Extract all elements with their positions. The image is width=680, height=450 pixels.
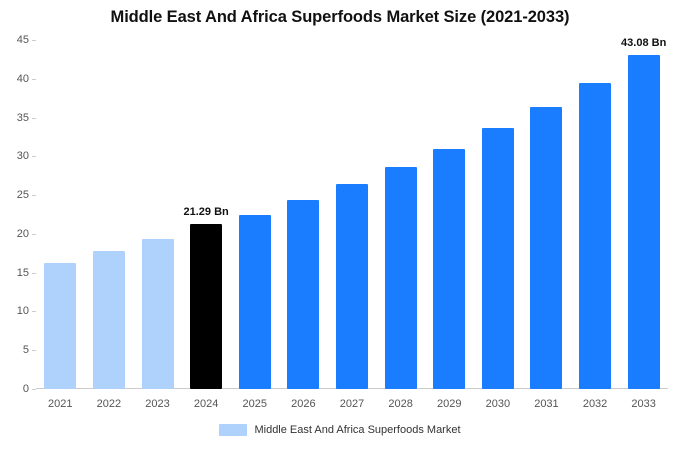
- y-tick-label: 40: [17, 73, 29, 85]
- x-tick-label: 2033: [631, 398, 655, 410]
- x-tick-label: 2029: [437, 398, 461, 410]
- bar-slot: 2028: [376, 40, 425, 389]
- bar-slot: 2029: [425, 40, 474, 389]
- plot-area: 051015202530354045 20212022202321.29 Bn2…: [36, 40, 668, 389]
- bar-2024[interactable]: [190, 224, 222, 389]
- chart-container: Middle East And Africa Superfoods Market…: [0, 0, 680, 450]
- chart-title: Middle East And Africa Superfoods Market…: [0, 8, 680, 27]
- x-tick-label: 2025: [243, 398, 267, 410]
- bar-2025[interactable]: [239, 215, 271, 390]
- x-tick-label: 2023: [145, 398, 169, 410]
- legend-swatch: [219, 424, 247, 436]
- bar-2027[interactable]: [336, 184, 368, 389]
- bar-slot: 2030: [474, 40, 523, 389]
- x-tick-label: 2021: [48, 398, 72, 410]
- bar-slot: 2025: [230, 40, 279, 389]
- y-tick-label: 25: [17, 189, 29, 201]
- bar-slot: 2031: [522, 40, 571, 389]
- y-tick-label: 20: [17, 228, 29, 240]
- x-tick-label: 2028: [388, 398, 412, 410]
- bar-slot: 2026: [279, 40, 328, 389]
- bar-slot: 2032: [571, 40, 620, 389]
- bar-2022[interactable]: [93, 251, 125, 389]
- chart-legend: Middle East And Africa Superfoods Market: [0, 424, 680, 436]
- y-tick-label: 0: [23, 383, 29, 395]
- x-tick-label: 2031: [534, 398, 558, 410]
- bar-value-label: 21.29 Bn: [184, 206, 229, 218]
- y-tick-label: 10: [17, 305, 29, 317]
- y-tick-label: 30: [17, 150, 29, 162]
- bar-slot: 2027: [328, 40, 377, 389]
- bar-2031[interactable]: [530, 107, 562, 389]
- bar-2032[interactable]: [579, 83, 611, 389]
- x-tick-label: 2026: [291, 398, 315, 410]
- bar-2028[interactable]: [385, 167, 417, 389]
- bar-slot: 43.08 Bn2033: [619, 40, 668, 389]
- x-tick-label: 2022: [97, 398, 121, 410]
- x-tick-label: 2024: [194, 398, 218, 410]
- y-tick-label: 45: [17, 34, 29, 46]
- bar-2021[interactable]: [44, 263, 76, 389]
- bar-value-label: 43.08 Bn: [621, 37, 666, 49]
- bar-2026[interactable]: [287, 200, 319, 389]
- legend-label: Middle East And Africa Superfoods Market: [254, 424, 460, 436]
- x-tick-label: 2027: [340, 398, 364, 410]
- y-tick-label: 35: [17, 112, 29, 124]
- bar-2030[interactable]: [482, 128, 514, 389]
- bar-slot: 21.29 Bn2024: [182, 40, 231, 389]
- bar-2033[interactable]: [628, 55, 660, 389]
- bar-series: 20212022202321.29 Bn20242025202620272028…: [36, 40, 668, 389]
- bar-2023[interactable]: [142, 239, 174, 389]
- y-tick-label: 15: [17, 267, 29, 279]
- bar-2029[interactable]: [433, 149, 465, 389]
- y-tick-label: 5: [23, 344, 29, 356]
- bar-slot: 2021: [36, 40, 85, 389]
- x-tick-label: 2030: [486, 398, 510, 410]
- bar-slot: 2023: [133, 40, 182, 389]
- y-tick-mark: [32, 389, 36, 390]
- x-tick-label: 2032: [583, 398, 607, 410]
- bar-slot: 2022: [85, 40, 134, 389]
